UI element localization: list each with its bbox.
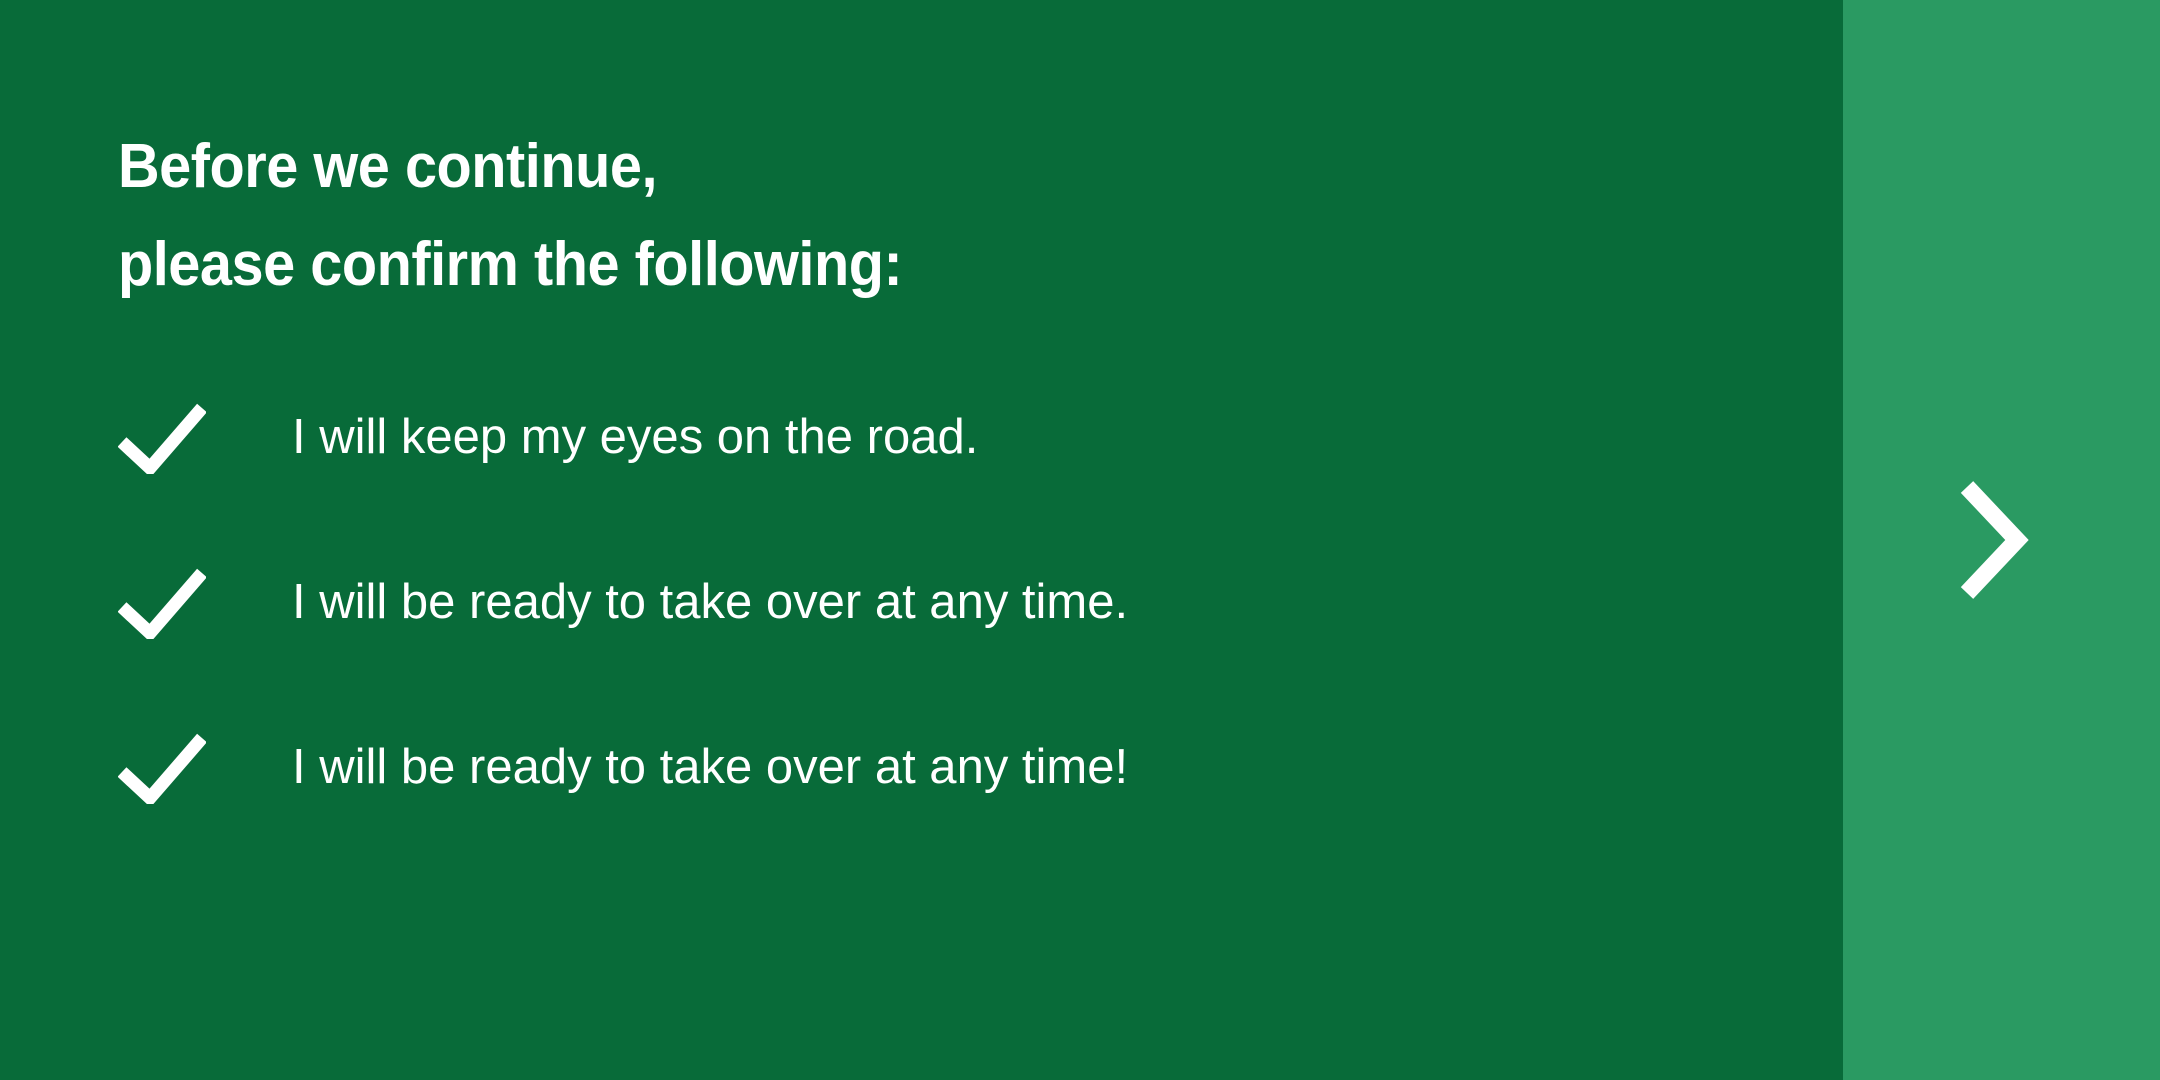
list-item-label: I will be ready to take over at any time… (292, 720, 1128, 815)
list-item-label: I will be ready to take over at any time… (292, 555, 1128, 650)
list-item[interactable]: I will keep my eyes on the road. (118, 390, 1718, 485)
list-item-label: I will keep my eyes on the road. (292, 390, 978, 485)
next-button[interactable] (1843, 0, 2160, 1080)
page-title: Before we continue, please confirm the f… (118, 118, 1722, 314)
main-panel: Before we continue, please confirm the f… (0, 0, 1843, 1080)
page-title-line-2: please confirm the following: (118, 216, 1722, 314)
check-icon (118, 720, 214, 815)
check-icon (118, 390, 214, 485)
page-title-line-1: Before we continue, (118, 118, 1722, 216)
chevron-right-icon (1955, 479, 2029, 601)
confirmation-screen: Before we continue, please confirm the f… (0, 0, 2160, 1080)
check-icon (118, 555, 214, 650)
confirmation-checklist: I will keep my eyes on the road. I will … (118, 390, 1718, 815)
next-panel (1843, 0, 2160, 1080)
list-item[interactable]: I will be ready to take over at any time… (118, 720, 1718, 815)
list-item[interactable]: I will be ready to take over at any time… (118, 555, 1718, 650)
